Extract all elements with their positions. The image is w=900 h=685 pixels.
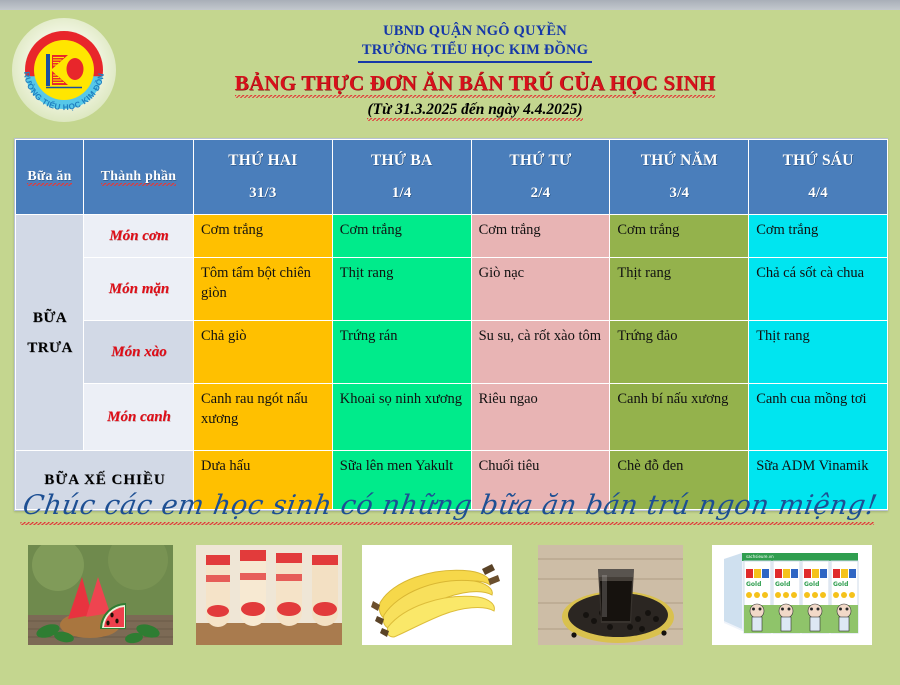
- cell-tue-stirfry: Trứng rán: [332, 321, 471, 384]
- yakult-photo: [196, 545, 342, 645]
- window-top-strip: [0, 0, 900, 10]
- cell-tue-soup: Khoai sọ ninh xương: [332, 384, 471, 451]
- table-row: Món xào Chả giò Trứng rán Su su, cà rốt …: [16, 321, 888, 384]
- menu-table-container: Bữa ăn Thành phần THỨ HAI 31/3 THỨ BA 1/…: [14, 138, 888, 511]
- svg-text:Gold: Gold: [833, 581, 848, 588]
- component-soup: Món canh: [84, 384, 194, 451]
- cell-thu-savory: Thịt rang: [610, 258, 749, 321]
- adm-milk-photo: Gold Gold Gold: [712, 545, 872, 645]
- cell-mon-rice: Cơm trắng: [194, 215, 333, 258]
- svg-text:Gold: Gold: [804, 581, 819, 588]
- wish-message: Chúc các em học sinh có những bữa ăn bán…: [0, 486, 900, 526]
- authority-line: UBND QUẬN NGÔ QUYỀN: [130, 22, 820, 41]
- menu-poster: TRƯỜNG TIỂU HỌC KIM ĐỒNG UBND QUẬN NGÔ Q…: [0, 10, 900, 685]
- photo-strip: Gold Gold Gold: [0, 545, 900, 660]
- col-header-monday: THỨ HAI 31/3: [194, 140, 333, 215]
- cell-fri-rice: Cơm trắng: [749, 215, 888, 258]
- cell-wed-rice: Cơm trắng: [471, 215, 610, 258]
- title-block: UBND QUẬN NGÔ QUYỀN TRƯỜNG TIỂU HỌC KIM …: [130, 22, 820, 121]
- table-row: BỮA TRƯA Món cơm Cơm trắng Cơm trắng Cơm…: [16, 215, 888, 258]
- col-header-wednesday: THỨ TƯ 2/4: [471, 140, 610, 215]
- cell-mon-savory: Tôm tẩm bột chiên giòn: [194, 258, 333, 321]
- cell-mon-stirfry: Chả giò: [194, 321, 333, 384]
- col-header-tuesday: THỨ BA 1/4: [332, 140, 471, 215]
- meal-label-lunch: BỮA TRƯA: [16, 215, 84, 451]
- cell-thu-soup: Canh bí nấu xương: [610, 384, 749, 451]
- component-rice: Món cơm: [84, 215, 194, 258]
- svg-text:TRƯỜNG TIỂU HỌC KIM ĐỒNG: TRƯỜNG TIỂU HỌC KIM ĐỒNG: [12, 18, 106, 112]
- school-name-line: TRƯỜNG TIỂU HỌC KIM ĐỒNG: [358, 41, 592, 63]
- menu-table: Bữa ăn Thành phần THỨ HAI 31/3 THỨ BA 1/…: [15, 139, 888, 510]
- cell-fri-savory: Chả cá sốt cà chua: [749, 258, 888, 321]
- cell-wed-soup: Riêu ngao: [471, 384, 610, 451]
- header-row: Bữa ăn Thành phần THỨ HAI 31/3 THỨ BA 1/…: [16, 140, 888, 215]
- component-savory: Món mặn: [84, 258, 194, 321]
- cell-tue-rice: Cơm trắng: [332, 215, 471, 258]
- svg-text:Gold: Gold: [775, 581, 790, 588]
- cell-fri-soup: Canh cua mồng tơi: [749, 384, 888, 451]
- col-header-thursday: THỨ NĂM 3/4: [610, 140, 749, 215]
- wish-text: Chúc các em học sinh có những bữa ăn bán…: [20, 490, 879, 525]
- watermelon-photo: [28, 545, 173, 645]
- col-header-meal: Bữa ăn: [16, 140, 84, 215]
- svg-text:sachsieure.vn: sachsieure.vn: [746, 554, 774, 559]
- cell-thu-stirfry: Trứng đảo: [610, 321, 749, 384]
- cell-thu-rice: Cơm trắng: [610, 215, 749, 258]
- col-header-component: Thành phần: [84, 140, 194, 215]
- logo-ring-text: TRƯỜNG TIỂU HỌC KIM ĐỒNG: [12, 18, 116, 122]
- date-range: (Từ 31.3.2025 đến ngày 4.4.2025): [367, 101, 582, 121]
- menu-table-head: Bữa ăn Thành phần THỨ HAI 31/3 THỨ BA 1/…: [16, 140, 888, 215]
- poster-header: TRƯỜNG TIỂU HỌC KIM ĐỒNG UBND QUẬN NGÔ Q…: [0, 10, 900, 128]
- cell-wed-stirfry: Su su, cà rốt xào tôm: [471, 321, 610, 384]
- poster-title: BẢNG THỰC ĐƠN ĂN BÁN TRÚ CỦA HỌC SINH: [235, 71, 716, 98]
- cell-fri-stirfry: Thịt rang: [749, 321, 888, 384]
- cell-mon-soup: Canh rau ngót nấu xương: [194, 384, 333, 451]
- cell-tue-savory: Thịt rang: [332, 258, 471, 321]
- banana-photo: [362, 545, 512, 645]
- component-stirfry: Món xào: [84, 321, 194, 384]
- table-row: Món mặn Tôm tẩm bột chiên giòn Thịt rang…: [16, 258, 888, 321]
- cell-wed-savory: Giò nạc: [471, 258, 610, 321]
- black-bean-dessert-photo: [538, 545, 683, 645]
- school-logo: TRƯỜNG TIỂU HỌC KIM ĐỒNG: [12, 18, 116, 122]
- table-row: Món canh Canh rau ngót nấu xương Khoai s…: [16, 384, 888, 451]
- menu-table-body: BỮA TRƯA Món cơm Cơm trắng Cơm trắng Cơm…: [16, 215, 888, 510]
- logo-ring-label: TRƯỜNG TIỂU HỌC KIM ĐỒNG: [12, 18, 106, 112]
- col-header-friday: THỨ SÁU 4/4: [749, 140, 888, 215]
- svg-text:Gold: Gold: [746, 581, 761, 588]
